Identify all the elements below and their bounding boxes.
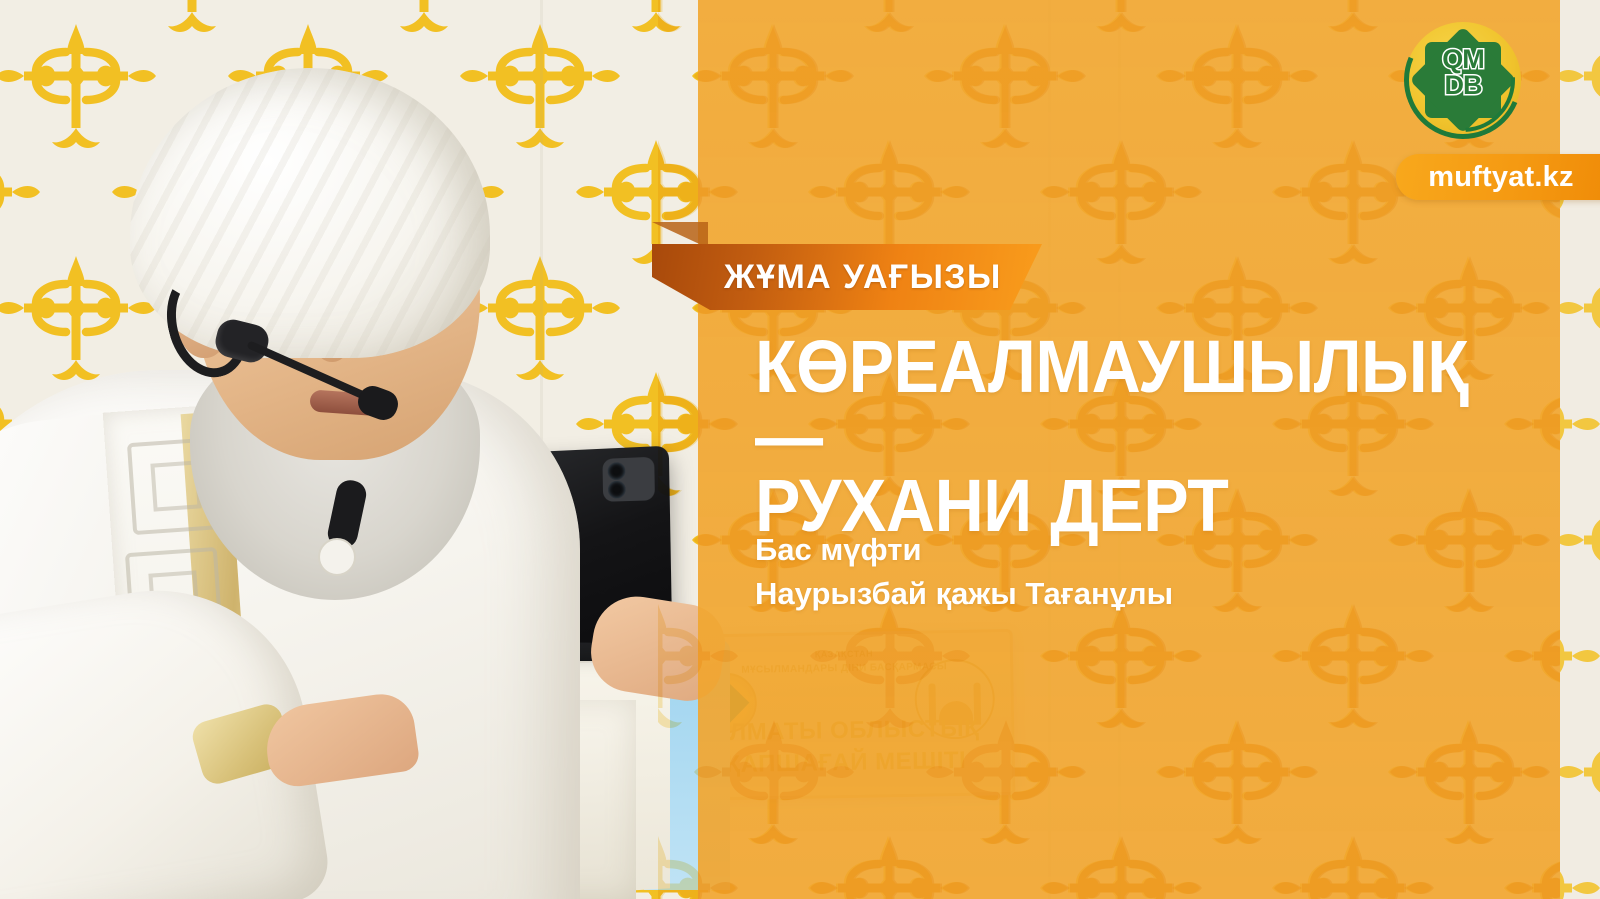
speaker-name: Наурызбай қажы Тағанұлы [755,572,1173,616]
speaker-figure [0,40,680,899]
title-line-1: КӨРЕАЛМАУШЫЛЫҚ — [755,332,1454,471]
speaker-role: Бас мүфти [755,528,1173,572]
category-ribbon: ЖҰМА УАҒЫЗЫ [652,222,1042,314]
speaker-credit: Бас мүфти Наурызбай қажы Тағанұлы [755,528,1173,616]
logo-monogram-bottom: DB [1405,72,1521,98]
lavalier-clip-icon [318,538,356,576]
logo-monogram: QM DB [1405,46,1521,99]
headline-block: КӨРЕАЛМАУШЫЛЫҚ — РУХАНИ ДЕРТ [755,332,1515,541]
website-url-pill[interactable]: muftyat.kz [1396,154,1600,200]
brand-block: QM DB muftyat.kz [1396,22,1600,202]
logo-monogram-top: QM [1405,46,1521,72]
page-title: КӨРЕАЛМАУШЫЛЫҚ — РУХАНИ ДЕРТ [755,332,1454,541]
website-url-label: muftyat.kz [1428,161,1573,194]
ribbon-label: ЖҰМА УАҒЫЗЫ [724,244,1002,310]
poster-canvas: ҚАЗАҚСТАН МҰСЫЛМАНДАРЫ ДІНИ БАСҚАРМАСЫ А… [0,0,1600,899]
qmdb-logo-icon[interactable]: QM DB [1405,22,1521,138]
